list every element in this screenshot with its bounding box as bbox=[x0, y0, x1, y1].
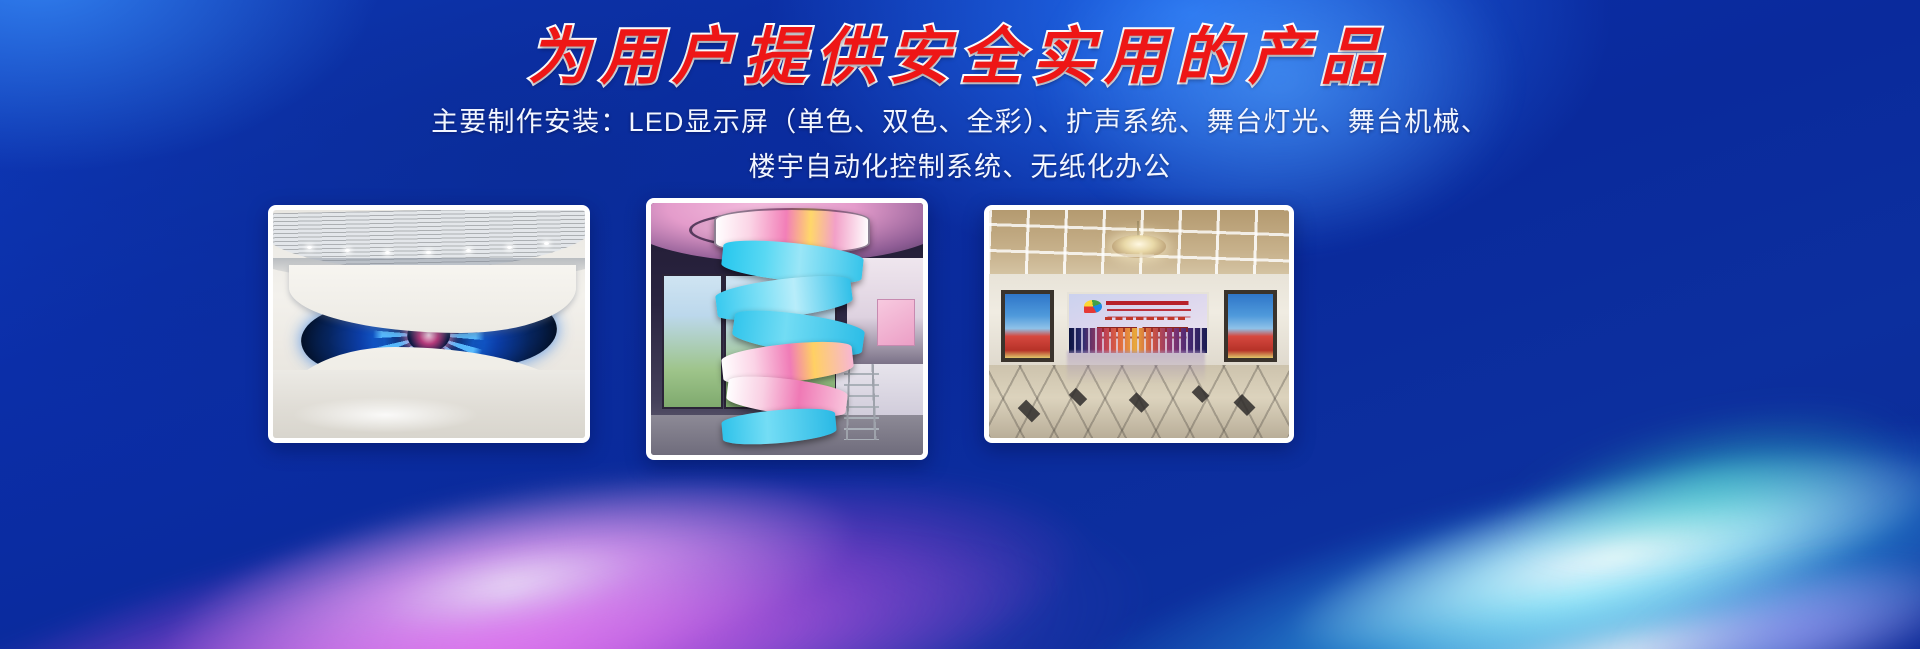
photo-card-spiral-led[interactable] bbox=[646, 198, 928, 460]
screen-floor-reflection bbox=[1067, 351, 1205, 383]
screen-title-text bbox=[1106, 301, 1192, 305]
photo-conference-hall bbox=[989, 210, 1289, 438]
photo-card-eye-led[interactable] bbox=[268, 205, 590, 443]
photo-eye-led-scene bbox=[273, 210, 585, 438]
chandelier bbox=[1112, 235, 1166, 258]
floor-reflection bbox=[292, 397, 479, 433]
city-skyline-graphic bbox=[1069, 328, 1207, 353]
ceiling-light-dot bbox=[345, 249, 350, 252]
banner-subtitle-line1: 主要制作安装：LED显示屏（单色、双色、全彩）、扩声系统、舞台灯光、舞台机械、 bbox=[0, 100, 1920, 139]
main-led-screen bbox=[1067, 292, 1209, 355]
photo-card-conference-hall[interactable] bbox=[984, 205, 1294, 443]
ceiling-light-dot bbox=[426, 251, 431, 254]
violet-light-sweep bbox=[1542, 473, 1920, 649]
right-led-panel bbox=[1224, 290, 1277, 362]
led-promo-banner: 为用户提供安全实用的产品 主要制作安装：LED显示屏（单色、双色、全彩）、扩声系… bbox=[0, 0, 1920, 649]
left-led-panel bbox=[1001, 290, 1054, 362]
photo-eye-led bbox=[273, 210, 585, 438]
banner-subtitle-line2: 楼宇自动化控制系统、无纸化办公 bbox=[0, 145, 1920, 184]
photo-spiral-led bbox=[651, 203, 923, 455]
company-logo-icon bbox=[1084, 300, 1102, 313]
window-pane bbox=[662, 274, 723, 409]
photo-spiral-led-scene bbox=[651, 203, 923, 455]
screen-service-tags bbox=[1105, 317, 1185, 320]
step-ladder bbox=[844, 364, 879, 440]
photo-conference-hall-scene bbox=[989, 210, 1289, 438]
banner-headline: 为用户提供安全实用的产品 bbox=[0, 24, 1920, 93]
teal-light-sweep bbox=[1409, 300, 1920, 649]
side-led-panel bbox=[877, 299, 914, 346]
